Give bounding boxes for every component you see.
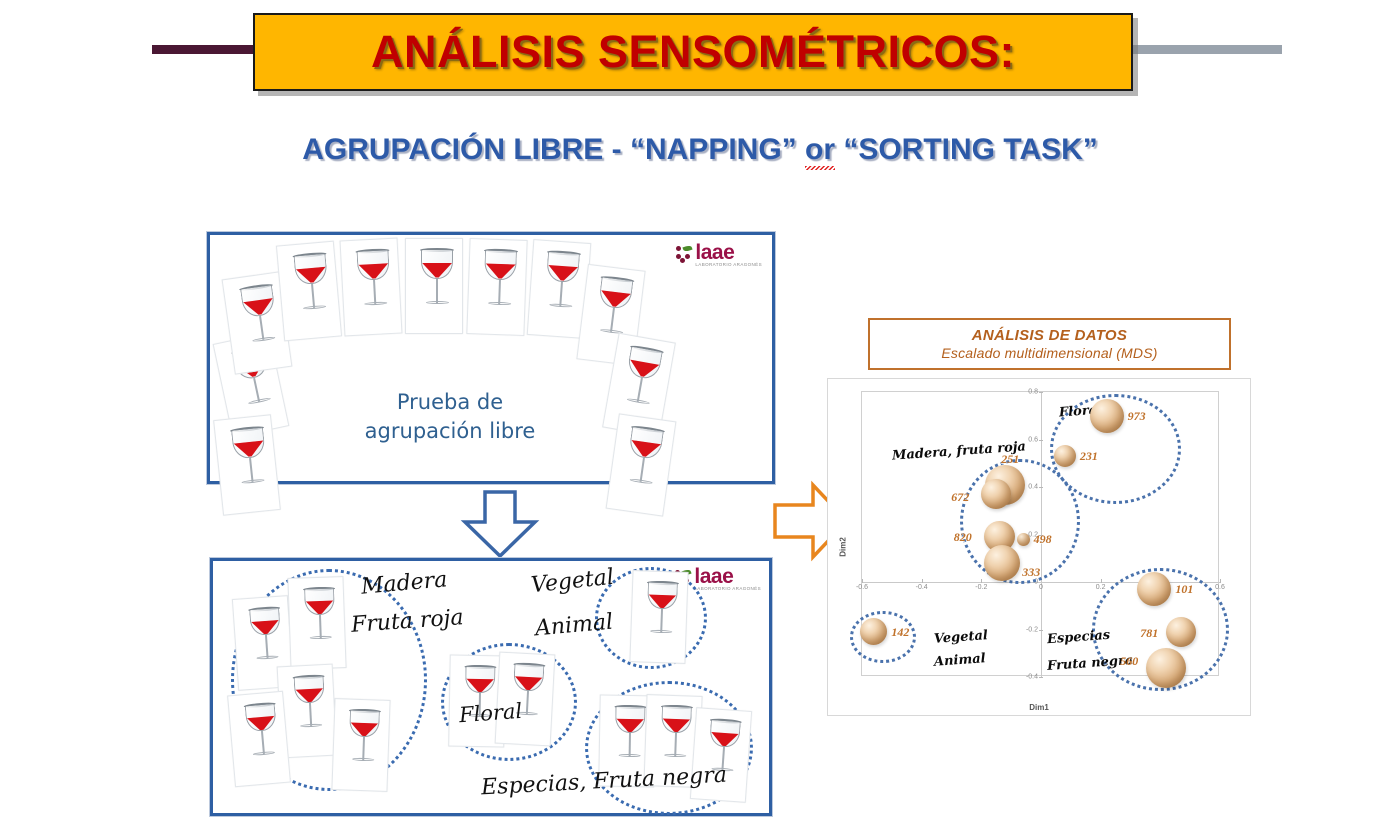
wine-glass-4 bbox=[357, 250, 392, 309]
group-label-1: Madera bbox=[360, 567, 448, 599]
bubble-label-560: 560 bbox=[1120, 654, 1138, 669]
page-title: ANÁLISIS SENSOMÉTRICOS: bbox=[371, 26, 1015, 78]
protocol-caption: Prueba de agrupación libre bbox=[330, 388, 570, 446]
bubble-label-142: 142 bbox=[891, 625, 909, 640]
wine-glass-6 bbox=[483, 250, 517, 308]
wine-glass-10 bbox=[231, 427, 269, 487]
bubble-333 bbox=[984, 545, 1020, 581]
slide-title-box: ANÁLISIS SENSOMÉTRICOS: bbox=[253, 13, 1133, 91]
wine-glass-7 bbox=[544, 252, 580, 311]
bubble-label-101: 101 bbox=[1175, 582, 1193, 597]
x-tick-0.2: 0.2 bbox=[1096, 584, 1106, 591]
bubble-498 bbox=[1017, 533, 1030, 546]
protocol-caption-line-1: Prueba de bbox=[330, 388, 570, 417]
y-axis-label: Dim2 bbox=[838, 537, 847, 557]
bubble-label-672: 672 bbox=[951, 490, 969, 505]
header-band: ANÁLISIS SENSOMÉTRICOS: bbox=[0, 0, 1400, 105]
subtitle-part-1: AGRUPACIÓN LIBRE - “NAPPING” bbox=[302, 133, 805, 166]
protocol-caption-line-2: agrupación libre bbox=[330, 417, 570, 446]
group-label-3: Vegetal bbox=[530, 565, 615, 599]
bubble-label-333: 333 bbox=[1022, 565, 1040, 580]
mds-annotation-4: Animal bbox=[933, 651, 986, 670]
x-axis-label: Dim1 bbox=[828, 703, 1250, 712]
protocol-panel: laae LABORATORIO ARAGONÉS bbox=[207, 232, 775, 484]
subtitle-misspelled-word: or bbox=[805, 133, 835, 167]
y-tickmark bbox=[1039, 630, 1043, 631]
groups-panel: laae LABORATORIO ARAGONÉS MaderaFruta ro… bbox=[210, 558, 772, 816]
x-tick-0: 0 bbox=[1039, 584, 1043, 591]
x-tickmark bbox=[922, 579, 923, 583]
y-tickmark bbox=[1039, 392, 1043, 393]
y-tickmark bbox=[1039, 677, 1043, 678]
x-tick--0.2: -0.2 bbox=[975, 584, 987, 591]
mds-title-main: ANÁLISIS DE DATOS bbox=[972, 327, 1127, 344]
bubble-label-251: 251 bbox=[1001, 452, 1019, 467]
x-tick--0.4: -0.4 bbox=[916, 584, 928, 591]
x-tickmark bbox=[1220, 579, 1221, 583]
x-tickmark bbox=[1101, 579, 1102, 583]
bubble-label-498: 498 bbox=[1034, 532, 1052, 547]
mds-chart-container: -0.6-0.4-0.200.20.40.60.80.60.40.20-0.2-… bbox=[827, 378, 1251, 716]
x-tick--0.6: -0.6 bbox=[856, 584, 868, 591]
bubble-973 bbox=[1090, 399, 1124, 433]
group-label-2: Fruta roja bbox=[350, 605, 464, 638]
wine-glass-5 bbox=[421, 250, 453, 307]
mds-plot-frame: -0.6-0.4-0.200.20.40.60.80.60.40.20-0.2-… bbox=[861, 391, 1219, 676]
bubble-label-781: 781 bbox=[1140, 626, 1158, 641]
group-label-6: Especias, Fruta negra bbox=[481, 763, 728, 801]
mds-title-box: ANÁLISIS DE DATOS Escalado multidimensio… bbox=[868, 318, 1231, 370]
mds-annotation-3: Vegetal bbox=[933, 628, 988, 647]
wine-glass-3 bbox=[294, 254, 331, 314]
group-label-4: Animal bbox=[534, 610, 614, 642]
wine-glass-8 bbox=[595, 277, 634, 338]
bubble-560 bbox=[1146, 648, 1186, 688]
bubble-781 bbox=[1166, 617, 1196, 647]
x-tick-0.6: 0.6 bbox=[1215, 584, 1225, 591]
mds-analysis-block: ANÁLISIS DE DATOS Escalado multidimensio… bbox=[820, 310, 1275, 722]
x-tickmark bbox=[981, 579, 982, 583]
group-labels: MaderaFruta rojaVegetalAnimalFloralEspec… bbox=[213, 561, 769, 813]
subtitle-part-2: “SORTING TASK” bbox=[835, 133, 1098, 166]
bubble-label-820: 820 bbox=[954, 530, 972, 545]
bubble-label-973: 973 bbox=[1128, 409, 1146, 424]
down-arrow-icon bbox=[455, 490, 545, 558]
y-tickmark bbox=[1039, 440, 1043, 441]
slide-subtitle: AGRUPACIÓN LIBRE - “NAPPING” or “SORTING… bbox=[0, 133, 1400, 167]
x-tickmark bbox=[862, 579, 863, 583]
y-tick--0.2: -0.2 bbox=[1019, 626, 1038, 633]
bubble-label-231: 231 bbox=[1080, 449, 1098, 464]
group-label-5: Floral bbox=[458, 699, 523, 727]
y-tick--0.4: -0.4 bbox=[1019, 674, 1038, 681]
mds-title-sub: Escalado multidimensional (MDS) bbox=[941, 345, 1157, 361]
bubble-231 bbox=[1054, 445, 1076, 467]
y-tick-0.8: 0.8 bbox=[1019, 389, 1038, 396]
